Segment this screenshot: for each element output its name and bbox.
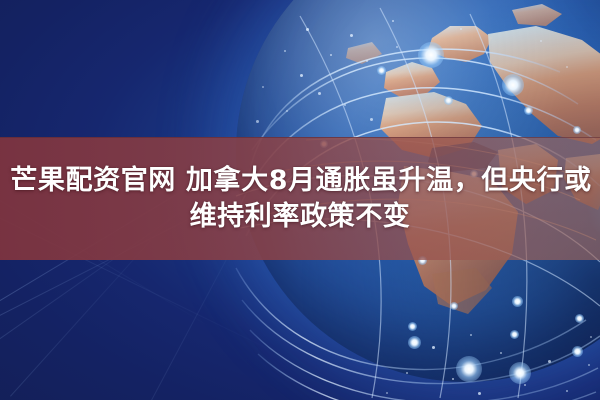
news-banner-image: 芒果配资官网 加拿大8月通胀虽升温，但央行或 维持利率政策不变 <box>0 0 600 400</box>
headline-line-2: 维持利率政策不变 <box>190 202 411 232</box>
headline-line-1: 芒果配资官网 加拿大8月通胀虽升温，但央行或 <box>8 166 591 196</box>
headline-text: 芒果配资官网 加拿大8月通胀虽升温，但央行或 维持利率政策不变 <box>0 137 600 260</box>
